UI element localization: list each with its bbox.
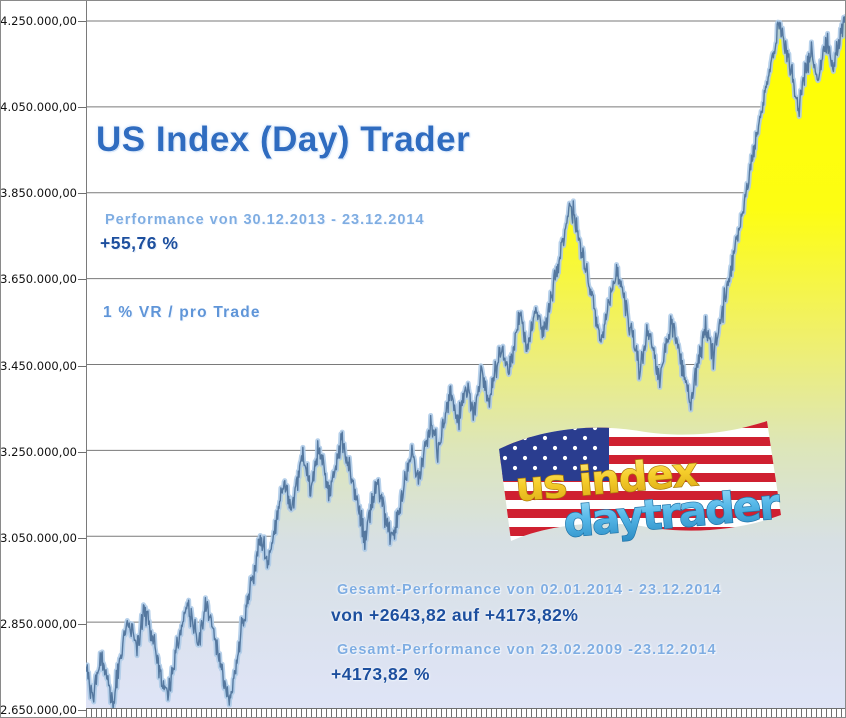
page-title: US Index (Day) Trader xyxy=(96,120,470,160)
chart-screenshot: 4.250.000,004.050.000,003.850.000,003.65… xyxy=(0,0,846,718)
y-axis-tick-label: 3.050.000,00 xyxy=(0,531,77,545)
y-axis-tick-mark xyxy=(78,193,86,194)
risk-per-trade-label: 1 % VR / pro Trade xyxy=(103,304,261,322)
total-performance-2009-label: Gesamt-Performance von 23.02.2009 -23.12… xyxy=(337,642,717,658)
performance-period-label: Performance von 30.12.2013 - 23.12.2014 xyxy=(105,212,425,228)
y-axis-tick-label: 4.250.000,00 xyxy=(0,14,77,28)
y-axis-tick-label: 3.850.000,00 xyxy=(0,186,77,200)
y-axis-tick-label: 3.450.000,00 xyxy=(0,359,77,373)
x-axis-ticks xyxy=(86,708,845,717)
y-axis-tick-mark xyxy=(78,452,86,453)
y-axis-tick-mark xyxy=(78,21,86,22)
y-axis-tick-mark xyxy=(78,624,86,625)
y-axis-tick-mark xyxy=(78,366,86,367)
y-axis-tick-label: 2.650.000,00 xyxy=(0,703,77,717)
y-axis-tick-label: 3.650.000,00 xyxy=(0,272,77,286)
y-axis-tick-mark xyxy=(78,538,86,539)
total-performance-2014-label: Gesamt-Performance von 02.01.2014 - 23.1… xyxy=(337,582,722,598)
y-axis-tick-label: 3.250.000,00 xyxy=(0,445,77,459)
y-axis-tick-mark xyxy=(78,279,86,280)
performance-value: +55,76 % xyxy=(100,233,178,254)
total-performance-2009-value: +4173,82 % xyxy=(331,664,430,685)
y-axis-tick-mark xyxy=(78,710,86,711)
total-performance-2014-value: von +2643,82 auf +4173,82% xyxy=(331,605,578,626)
y-axis-tick-label: 2.850.000,00 xyxy=(0,617,77,631)
y-axis-labels: 4.250.000,004.050.000,003.850.000,003.65… xyxy=(1,1,85,718)
y-axis-tick-label: 4.050.000,00 xyxy=(0,100,77,114)
y-axis-tick-mark xyxy=(78,107,86,108)
